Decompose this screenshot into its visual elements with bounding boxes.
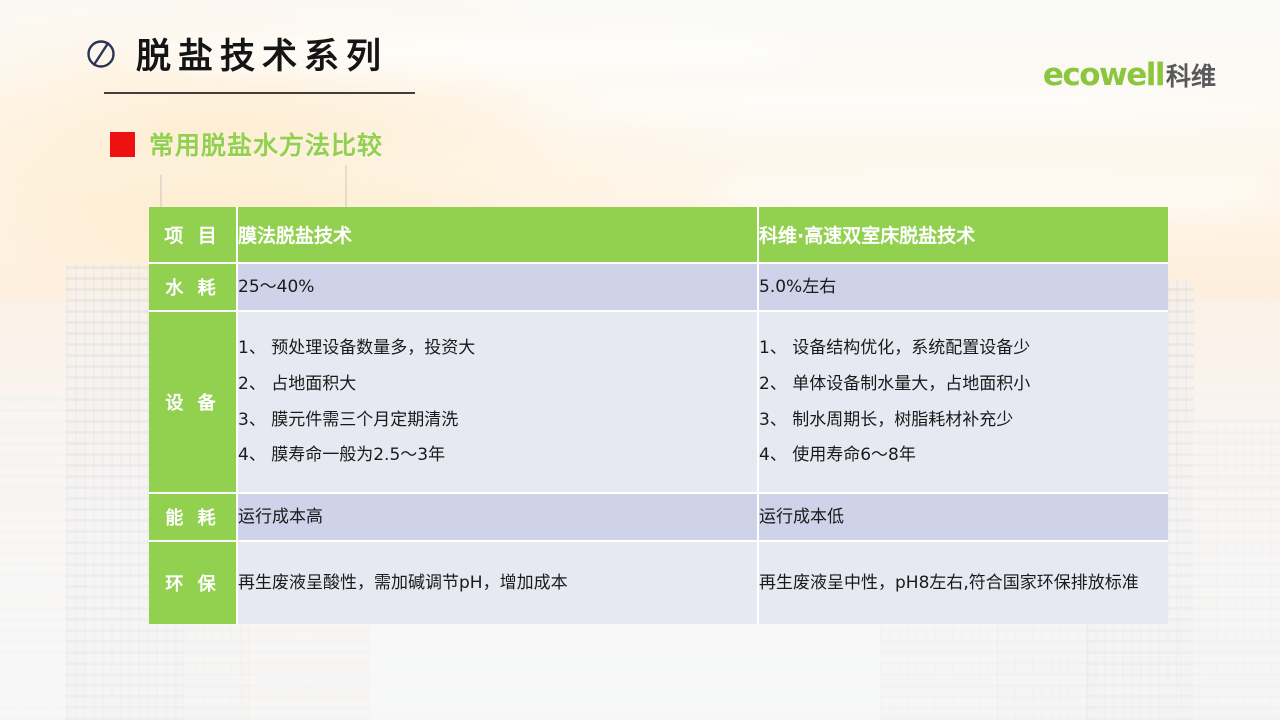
brand-logo: ecowell 科维 — [1043, 60, 1216, 91]
table-header-row: 项 目 膜法脱盐技术 科维·高速双室床脱盐技术 — [149, 207, 1168, 262]
logo-wordmark: ecowell — [1043, 60, 1164, 91]
cell-membrane-environment: 再生废液呈酸性，需加碱调节pH，增加成本 — [238, 540, 759, 624]
table-row: 设 备 1、 预处理设备数量多，投资大 2、 占地面积大 3、 膜元件需三个月定… — [149, 310, 1168, 492]
row-label-water-consumption: 水 耗 — [149, 262, 238, 310]
page-title: 脱盐技术系列 — [84, 28, 388, 79]
table-row: 水 耗 25～40% 5.0%左右 — [149, 262, 1168, 310]
row-label-energy: 能 耗 — [149, 492, 238, 540]
row-label-environment: 环 保 — [149, 540, 238, 624]
section-heading-text: 常用脱盐水方法比较 — [149, 126, 383, 162]
row-label-equipment: 设 备 — [149, 310, 238, 492]
column-header-ecowell: 科维·高速双室床脱盐技术 — [759, 207, 1168, 262]
table-row: 环 保 再生废液呈酸性，需加碱调节pH，增加成本 再生废液呈中性，pH8左右,符… — [149, 540, 1168, 624]
cell-membrane-equipment: 1、 预处理设备数量多，投资大 2、 占地面积大 3、 膜元件需三个月定期清洗 … — [238, 310, 759, 492]
column-header-membrane: 膜法脱盐技术 — [238, 207, 759, 262]
title-underline-rule — [104, 92, 415, 94]
page-title-text: 脱盐技术系列 — [136, 28, 388, 79]
cell-membrane-energy: 运行成本高 — [238, 492, 759, 540]
comparison-table: 项 目 膜法脱盐技术 科维·高速双室床脱盐技术 水 耗 25～40% 5.0%左… — [149, 207, 1168, 624]
cell-ecowell-equipment: 1、 设备结构优化，系统配置设备少 2、 单体设备制水量大，占地面积小 3、 制… — [759, 310, 1168, 492]
column-header-item: 项 目 — [149, 207, 238, 262]
table-row: 能 耗 运行成本高 运行成本低 — [149, 492, 1168, 540]
cell-membrane-water: 25～40% — [238, 262, 759, 310]
logo-chinese-name: 科维 — [1166, 64, 1216, 89]
cell-ecowell-environment: 再生废液呈中性，pH8左右,符合国家环保排放标准 — [759, 540, 1168, 624]
red-square-bullet-icon — [110, 132, 135, 157]
slashed-circle-icon — [84, 37, 118, 71]
cell-ecowell-water: 5.0%左右 — [759, 262, 1168, 310]
section-heading: 常用脱盐水方法比较 — [110, 126, 383, 162]
cell-ecowell-energy: 运行成本低 — [759, 492, 1168, 540]
